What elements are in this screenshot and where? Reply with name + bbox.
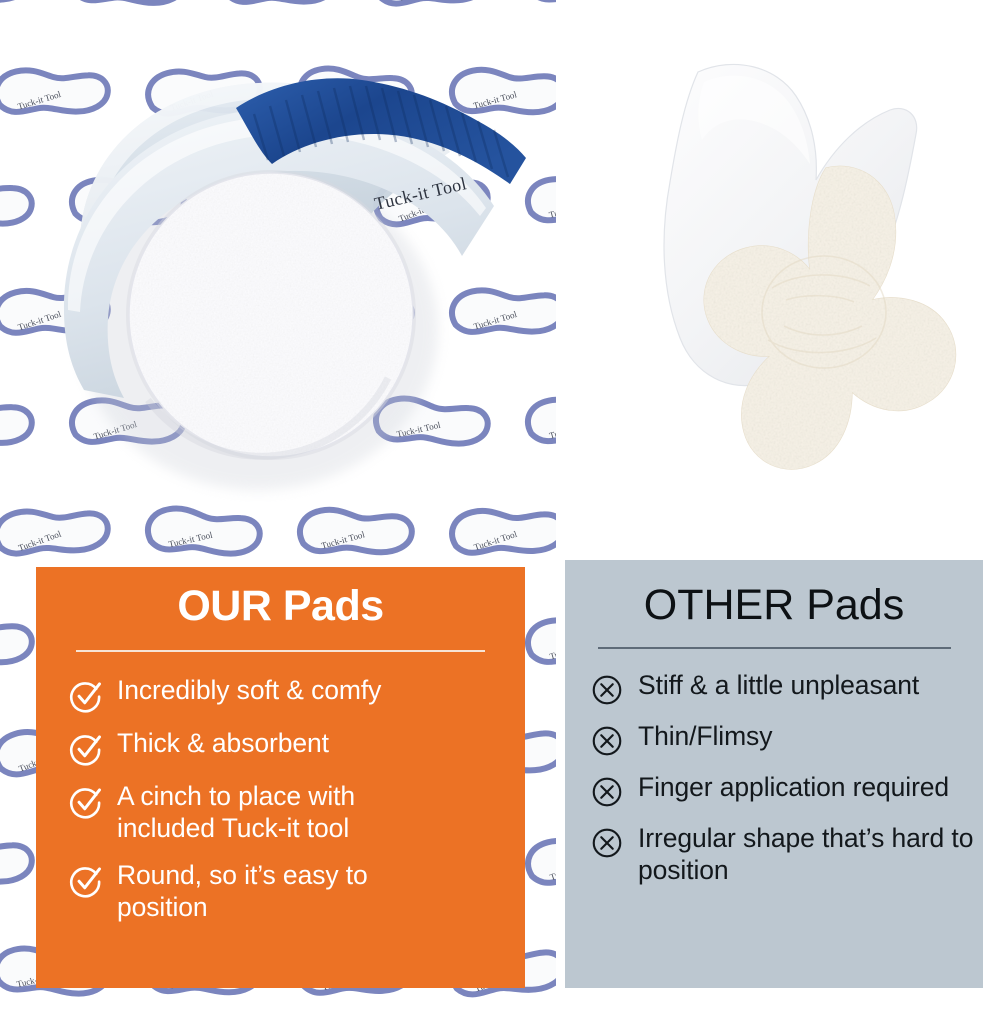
list-item: Thick & absorbent [68,727,525,766]
tuck-it-tool-pattern-glyph: Tuck-it Tool [0,0,44,27]
list-item-label: Incredibly soft & comfy [117,674,381,706]
list-item-label: Finger application required [638,771,949,803]
list-item-label: Thick & absorbent [117,727,329,759]
our-pads-panel: OUR Pads Incredibly soft & comfy [36,567,525,988]
list-item-label: A cinch to place with included Tuck-it t… [117,780,447,845]
check-circle-icon [68,862,104,898]
list-item-label: Round, so it’s easy to position [117,859,447,924]
other-pads-title: OTHER Pads [565,584,983,627]
infographic-root: Tuck-it ToolTuck-it ToolTuck-it ToolTuck… [0,0,995,1024]
list-item: Thin/Flimsy [589,720,983,759]
our-pads-divider [76,650,485,652]
our-pads-benefit-list: Incredibly soft & comfy Thick & absorben… [68,674,525,923]
list-item: Incredibly soft & comfy [68,674,525,713]
list-item: Round, so it’s easy to position [68,859,525,924]
list-item: Stiff & a little unpleasant [589,669,983,708]
other-pads-divider [598,647,951,649]
our-pads-product-image: Tuck-it Tool [58,60,528,510]
other-pads-drawback-list: Stiff & a little unpleasant Thin/Flimsy [589,669,983,887]
tuck-it-tool-pattern-glyph: Tuck-it Tool [59,0,194,20]
x-circle-icon [589,774,625,810]
other-pads-product-image [576,30,976,530]
list-item-label: Irregular shape that’s hard to position [638,822,983,887]
x-circle-icon [589,723,625,759]
check-circle-icon [68,783,104,819]
list-item: Irregular shape that’s hard to position [589,822,983,887]
other-product-scene [556,0,995,560]
product-imagery-row: Tuck-it ToolTuck-it ToolTuck-it ToolTuck… [0,0,995,560]
x-circle-icon [589,672,625,708]
tuck-it-tool-pattern-glyph: Tuck-it Tool [0,164,41,238]
check-circle-icon [68,730,104,766]
tuck-it-tool-pattern-glyph: Tuck-it Tool [0,382,41,459]
x-circle-icon [589,825,625,861]
list-item: A cinch to place with included Tuck-it t… [68,780,525,845]
other-pads-panel: OTHER Pads Stiff & a little unpleasant [565,560,983,988]
check-circle-icon [68,677,104,713]
list-item-label: Stiff & a little unpleasant [638,669,919,701]
our-pads-title: OUR Pads [36,585,525,628]
list-item: Finger application required [589,771,983,810]
tuck-it-tool-pattern-glyph: Tuck-it Tool [210,0,347,22]
list-item-label: Thin/Flimsy [638,720,772,752]
tuck-it-tool-pattern-glyph: Tuck-it Tool [361,0,499,25]
tuck-it-tool-pattern-glyph: Tuck-it Tool [515,0,556,18]
